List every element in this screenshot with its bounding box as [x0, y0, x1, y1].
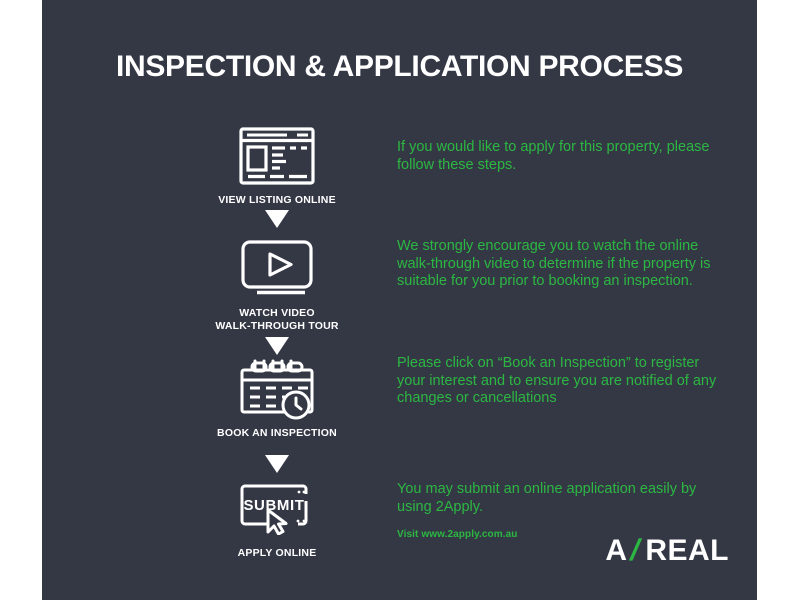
- step-label-line-1: WATCH VIDEO: [239, 307, 315, 319]
- step-label-view-listing: VIEW LISTING ONLINE: [194, 194, 360, 207]
- connector-arrow-1: [194, 210, 360, 228]
- copy-book-inspection: Please click on “Book an Inspection” to …: [397, 355, 722, 408]
- connector-arrow-2: [194, 337, 360, 355]
- copy-watch-video: We strongly encourage you to watch the o…: [397, 238, 732, 291]
- step-label-book-inspection: BOOK AN INSPECTION: [194, 427, 360, 440]
- logo-part-real: REAL: [645, 534, 729, 568]
- dark-panel: INSPECTION & APPLICATION PROCESS: [42, 0, 757, 600]
- video-play-monitor-icon: [194, 238, 360, 300]
- logo-part-a: A: [605, 534, 627, 568]
- step-watch-video[interactable]: WATCH VIDEO WALK-THROUGH TOUR: [194, 238, 360, 333]
- logo-slash-icon: /: [627, 534, 644, 568]
- step-view-listing-online[interactable]: VIEW LISTING ONLINE: [194, 125, 360, 207]
- step-label-line-2: WALK-THROUGH TOUR: [215, 320, 338, 332]
- visit-2apply-link[interactable]: Visit www.2apply.com.au: [397, 529, 517, 540]
- step-label-apply-online: APPLY ONLINE: [194, 547, 360, 560]
- page-title: INSPECTION & APPLICATION PROCESS: [42, 50, 757, 84]
- step-label-watch-video: WATCH VIDEO WALK-THROUGH TOUR: [194, 307, 360, 333]
- step-book-inspection[interactable]: BOOK AN INSPECTION: [194, 358, 360, 440]
- copy-view-listing: If you would like to apply for this prop…: [397, 139, 727, 174]
- svg-text:SUBMIT: SUBMIT: [243, 497, 304, 514]
- copy-apply-online: You may submit an online application eas…: [397, 481, 722, 516]
- connector-arrow-3: [194, 455, 360, 473]
- browser-listing-icon: [194, 125, 360, 187]
- brand-logo[interactable]: A / REAL: [605, 534, 729, 568]
- infographic-page: INSPECTION & APPLICATION PROCESS: [0, 0, 800, 600]
- calendar-clock-icon: [194, 358, 360, 420]
- submit-button-cursor-icon: SUBMIT: [194, 478, 360, 540]
- step-apply-online[interactable]: SUBMIT APPLY ONLINE: [194, 478, 360, 560]
